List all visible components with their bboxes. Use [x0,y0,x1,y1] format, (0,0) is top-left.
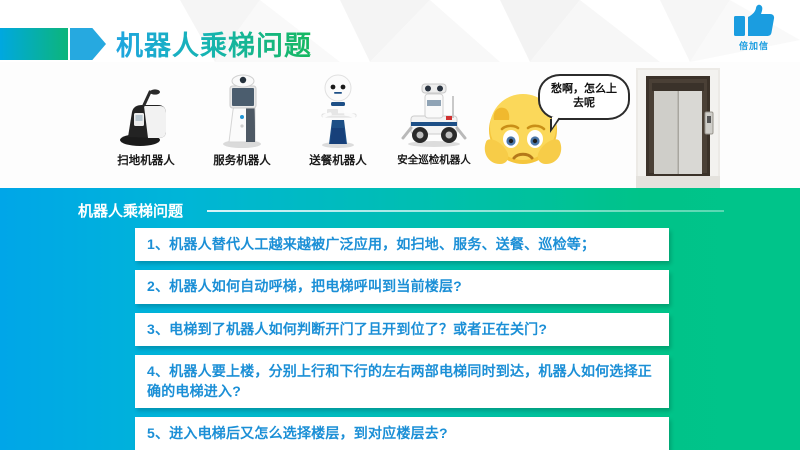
robot-item-delivery: 送餐机器人 [290,70,386,180]
page-header: 机器人乘梯问题 倍加信 [0,0,800,62]
illustration-panel: 扫地机器人 服务机器人 [0,62,800,188]
robot-item-patrol: 安全巡检机器人 [386,70,482,180]
robot-item-sweeping: 扫地机器人 [98,70,194,180]
patrol-robot-image [397,70,471,148]
robot-item-service: 服务机器人 [194,70,290,180]
section-header: 机器人乘梯问题 [78,200,724,221]
elevator-door-photo [636,68,720,188]
delivery-robot-image [310,70,366,148]
page-title: 机器人乘梯问题 [116,24,312,62]
brand-logo: 倍加信 [724,4,784,52]
sweeping-robot-image [114,70,178,148]
robot-label: 安全巡检机器人 [397,152,471,167]
list-item: 4、机器人要上楼，分别上行和下行的左右两部电梯同时到达，机器人如何选择正确的电梯… [135,355,669,409]
thumbs-up-icon [732,4,776,38]
list-item: 1、机器人替代人工越来越被广泛应用，如扫地、服务、送餐、巡检等； [135,228,669,261]
brand-logo-text: 倍加信 [724,39,784,52]
question-list: 1、机器人替代人工越来越被广泛应用，如扫地、服务、送餐、巡检等； 2、机器人如何… [135,228,669,450]
section-title: 机器人乘梯问题 [78,200,183,221]
title-accent-block [0,28,68,60]
robot-label: 送餐机器人 [309,152,367,168]
list-item: 5、进入电梯后又怎么选择楼层，到对应楼层去? [135,417,669,450]
robot-label: 服务机器人 [213,152,271,168]
section-divider [207,210,724,212]
robot-gallery: 扫地机器人 服务机器人 [98,70,483,180]
list-item: 2、机器人如何自动呼梯，把电梯呼叫到当前楼层? [135,270,669,303]
service-robot-image [216,70,268,148]
robot-label: 扫地机器人 [117,152,175,168]
list-item: 3、电梯到了机器人如何判断开门了且开到位了？或者正在关门? [135,313,669,346]
speech-bubble: 愁啊，怎么上去呢 [538,74,630,120]
